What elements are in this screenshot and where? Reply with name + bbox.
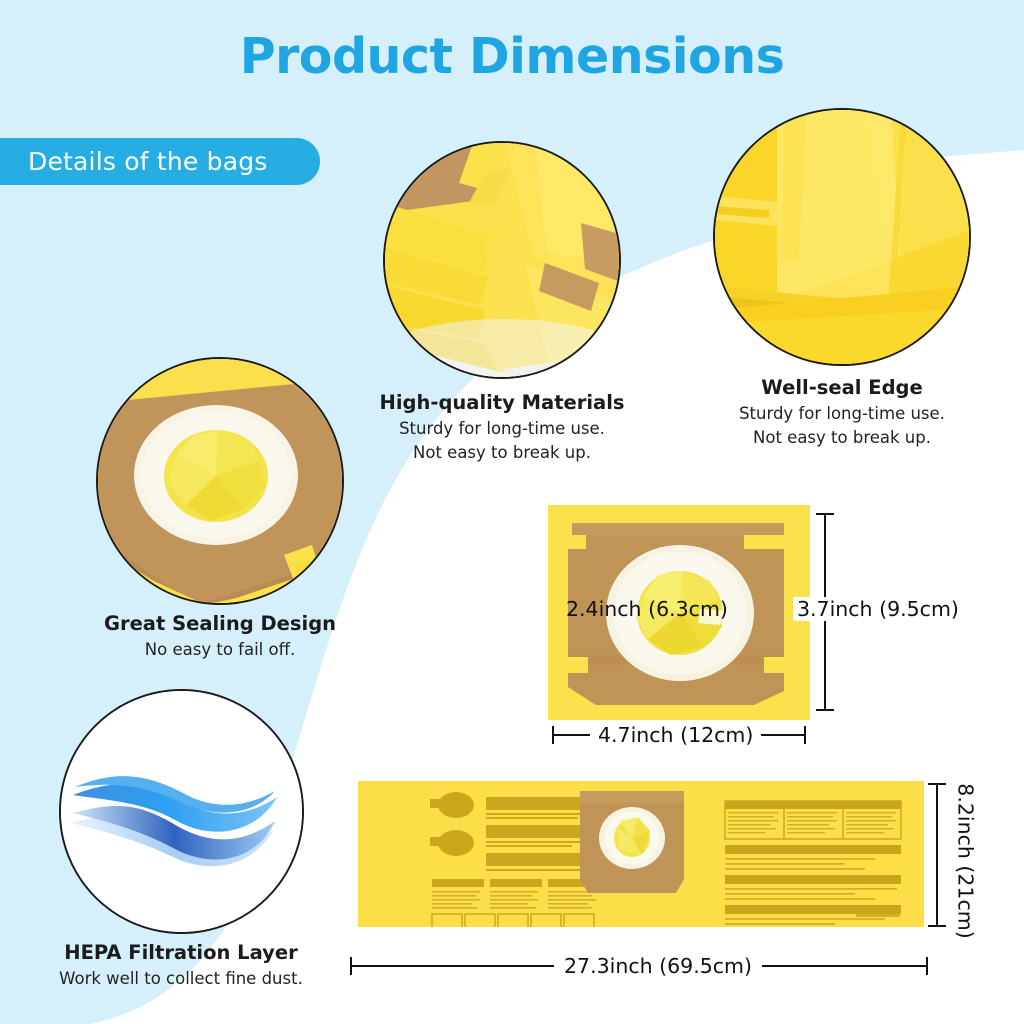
section-badge: Details of the bags bbox=[0, 138, 320, 185]
feature-high-quality-materials: High-quality Materials Sturdy for long-t… bbox=[383, 141, 621, 379]
flat-height-rule-cap-top bbox=[928, 783, 946, 785]
flat-height-rule-cap-bottom bbox=[928, 925, 946, 927]
vacuum-bag-unfolded-flat-photo bbox=[358, 781, 924, 927]
great-sealing-design-photo bbox=[96, 357, 344, 605]
feature-hepa-filtration-layer: HEPA Filtration Layer Work well to colle… bbox=[59, 689, 304, 934]
feature-title: High-quality Materials bbox=[322, 391, 682, 414]
well-seal-edge-photo bbox=[713, 108, 971, 366]
flat-bag-dimension-group: 8.2inch (21cm) 27.3inch (69.5cm) bbox=[358, 781, 924, 932]
high-quality-materials-photo bbox=[383, 141, 621, 379]
flat-height-rule-line bbox=[936, 783, 938, 927]
feature-line: No easy to fail off. bbox=[40, 640, 400, 659]
flat-bag-width-label: 27.3inch (69.5cm) bbox=[554, 954, 762, 978]
feature-line: Work well to collect fine dust. bbox=[1, 969, 361, 988]
flat-bag-height-label: 8.2inch (21cm) bbox=[954, 783, 978, 938]
great-sealing-design-caption: Great Sealing Design No easy to fail off… bbox=[40, 612, 400, 659]
feature-title: HEPA Filtration Layer bbox=[1, 941, 361, 964]
collar-diameter-label: 2.4inch (6.3cm) bbox=[566, 597, 728, 621]
feature-line: Sturdy for long-time use. bbox=[322, 419, 682, 438]
height-rule-cap-bottom bbox=[816, 709, 834, 711]
hepa-filtration-layer-caption: HEPA Filtration Layer Work well to colle… bbox=[1, 941, 361, 988]
height-rule-cap-top bbox=[816, 513, 834, 515]
feature-great-sealing-design: Great Sealing Design No easy to fail off… bbox=[96, 357, 344, 605]
section-badge-label: Details of the bags bbox=[0, 147, 268, 176]
well-seal-edge-caption: Well-seal Edge Sturdy for long-time use.… bbox=[662, 376, 1022, 447]
hepa-filtration-layer-photo bbox=[59, 689, 304, 934]
infographic-canvas: Product Dimensions Details of the bags bbox=[0, 0, 1024, 1024]
page-title: Product Dimensions bbox=[0, 28, 1024, 85]
feature-title: Well-seal Edge bbox=[662, 376, 1022, 399]
width-rule-cap-right bbox=[804, 726, 806, 744]
front-bag-dimension-group: 2.4inch (6.3cm) 3.7inch (9.5cm) 4.7inch … bbox=[548, 505, 810, 725]
feature-line: Sturdy for long-time use. bbox=[662, 404, 1022, 423]
feature-title: Great Sealing Design bbox=[40, 612, 400, 635]
front-bag-height-label: 3.7inch (9.5cm) bbox=[793, 597, 963, 621]
feature-line: Not easy to break up. bbox=[322, 443, 682, 462]
feature-well-seal-edge: Well-seal Edge Sturdy for long-time use.… bbox=[713, 108, 971, 366]
width-rule-cap-left bbox=[552, 726, 554, 744]
front-bag-width-label: 4.7inch (12cm) bbox=[590, 723, 761, 747]
flat-width-rule-cap-left bbox=[350, 957, 352, 975]
feature-line: Not easy to break up. bbox=[662, 428, 1022, 447]
flat-width-rule-cap-right bbox=[926, 957, 928, 975]
high-quality-materials-caption: High-quality Materials Sturdy for long-t… bbox=[322, 391, 682, 462]
